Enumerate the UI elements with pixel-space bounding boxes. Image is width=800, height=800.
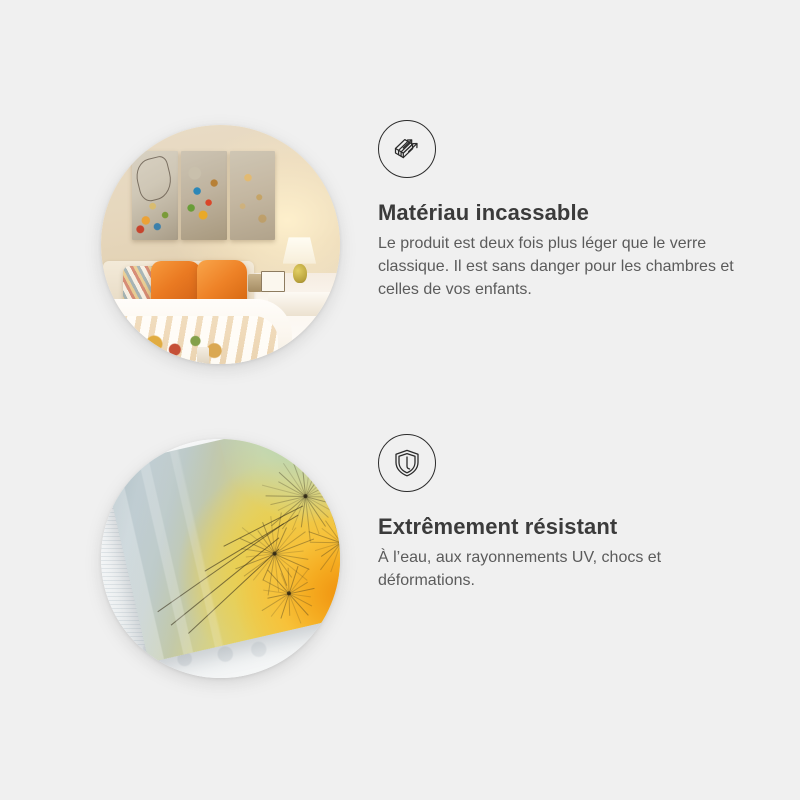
shield-icon [378, 434, 436, 492]
picture-frame [261, 271, 285, 293]
feature-text-unbreakable: Matériau incassable Le produit est deux … [378, 120, 758, 302]
art-panel-left [132, 151, 178, 239]
feature-block-resistant: Extrêmement résistant À l’eau, aux rayon… [0, 434, 800, 684]
paisley-throw [106, 316, 278, 364]
feature-title: Matériau incassable [378, 200, 758, 226]
circular-photo-bedroom [101, 125, 340, 364]
feature-description: Le produit est deux fois plus léger que … [378, 233, 744, 302]
lamp-shade [283, 237, 316, 263]
dandelion-stem [204, 515, 298, 572]
feature-image-unbreakable[interactable] [101, 125, 340, 364]
dandelion-seedhead [223, 502, 326, 605]
dandelion-seedhead [250, 441, 340, 551]
bendable-layers-arrows-icon [378, 120, 436, 178]
bedroom-scene [101, 125, 340, 364]
feature-text-resistant: Extrêmement résistant À l’eau, aux rayon… [378, 434, 758, 593]
dandelion-stem [157, 523, 284, 612]
dandelion-scene [101, 439, 340, 678]
feature-title: Extrêmement résistant [378, 514, 758, 540]
feature-description: À l’eau, aux rayonnements UV, chocs et d… [378, 547, 744, 593]
art-panel-center [181, 151, 227, 239]
feature-page: Matériau incassable Le produit est deux … [0, 0, 800, 800]
art-panel-right [230, 151, 276, 239]
feature-image-resistant[interactable] [101, 439, 340, 678]
circular-photo-dandelion [101, 439, 340, 678]
dandelion-stem [170, 537, 279, 626]
lamp-base [293, 264, 306, 283]
dandelion-stem [224, 506, 304, 548]
dandelion-seedhead [299, 501, 340, 585]
dandelion-seedhead [250, 554, 329, 633]
wall-art-triptych [132, 151, 275, 239]
bed-leg [197, 347, 209, 364]
dandelion-stem [188, 548, 280, 634]
feature-block-unbreakable: Matériau incassable Le produit est deux … [0, 120, 800, 370]
